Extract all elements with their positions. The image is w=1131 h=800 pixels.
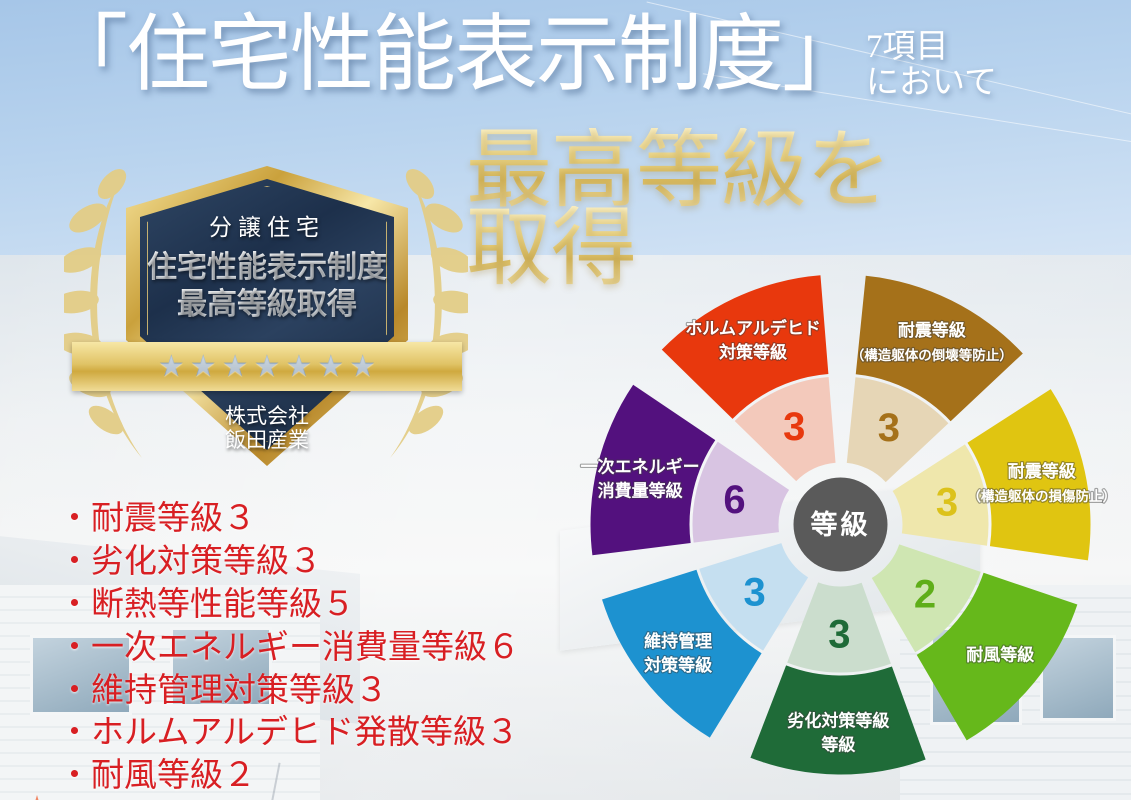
star-icon: ★ (190, 352, 217, 382)
pie-segment-label: 耐風等級 (966, 645, 1034, 665)
pie-segment-sublabel: 対策等級 (718, 342, 787, 362)
pie-segment-label: 劣化対策等級 (787, 710, 889, 730)
poster-canvas: 「住宅性能表示制度」 7項目 において 最高等級を 取得 (0, 0, 1131, 800)
star-icon: ★ (349, 352, 376, 382)
pie-segment-value: 3 (878, 406, 900, 450)
list-item: 断熱等性能等級５ (58, 584, 520, 627)
badge-main-line2: 最高等級取得 (126, 279, 408, 323)
pie-segment-label: 耐震等級 (898, 320, 966, 340)
traffic-cone (20, 795, 54, 800)
badge-company-line2: 飯田産業 (126, 424, 408, 454)
shield-graphic: 分譲住宅 住宅性能表示制度 最高等級取得 ★ ★ ★ ★ ★ ★ ★ 株式会社 … (126, 166, 408, 466)
star-icon: ★ (317, 352, 344, 382)
headline-main: 「住宅性能表示制度」 (44, 14, 864, 98)
pie-segment-value: 3 (743, 571, 765, 615)
star-icon: ★ (254, 352, 281, 382)
star-icon: ★ (158, 352, 185, 382)
gold-headline: 最高等級を 取得 (466, 128, 891, 291)
pie-segment-sublabel: （構造躯体の倒壊等防止） (851, 347, 1013, 363)
headline: 「住宅性能表示制度」 7項目 において (44, 14, 997, 101)
star-icon: ★ (222, 352, 249, 382)
badge-top-label: 分譲住宅 (126, 208, 408, 242)
headline-sub-line1: 7項目 (866, 30, 997, 66)
grade-pie-chart: 3耐震等級（構造躯体の倒壊等防止）3耐震等級（構造躯体の損傷防止）2耐風等級3劣… (588, 272, 1093, 777)
headline-sub: 7項目 において (866, 30, 997, 101)
pie-segment-sublabel: （構造躯体の損傷防止） (968, 488, 1117, 504)
pie-segment-sublabel: 等級 (821, 734, 855, 754)
performance-grade-list: 耐震等級３ 劣化対策等級３ 断熱等性能等級５ 一次エネルギー消費量等級６ 維持管… (58, 498, 520, 798)
pie-segment-label: 耐震等級 (1008, 461, 1076, 481)
pie-segment-label: 一次エネルギー (581, 457, 700, 477)
list-item: 耐風等級２ (58, 755, 520, 798)
pie-segment-value: 3 (936, 480, 958, 524)
pie-segment-label: ホルムアルデヒド (685, 318, 821, 338)
pie-center-label: 等級 (811, 509, 871, 540)
pie-segment-sublabel: 消費量等級 (598, 481, 683, 501)
pie-segment-value: 3 (783, 405, 805, 449)
certification-badge: 分譲住宅 住宅性能表示制度 最高等級取得 ★ ★ ★ ★ ★ ★ ★ 株式会社 … (70, 162, 462, 484)
headline-sub-line2: において (866, 66, 997, 102)
pie-segment-value: 3 (828, 612, 850, 656)
pie-segment-value: 6 (723, 478, 745, 522)
star-rating: ★ ★ ★ ★ ★ ★ ★ (72, 342, 462, 391)
list-item: 耐震等級３ (58, 498, 520, 541)
badge-star-ribbon: ★ ★ ★ ★ ★ ★ ★ (72, 342, 462, 391)
list-item: ホルムアルデヒド発散等級３ (58, 712, 520, 755)
list-item: 劣化対策等級３ (58, 541, 520, 584)
list-item: 一次エネルギー消費量等級６ (58, 627, 520, 670)
pie-segment-sublabel: 対策等級 (643, 655, 712, 675)
pie-segment-label: 維持管理 (644, 631, 712, 651)
star-icon: ★ (285, 352, 312, 382)
pie-segment-value: 2 (914, 572, 936, 616)
list-item: 維持管理対策等級３ (58, 670, 520, 713)
